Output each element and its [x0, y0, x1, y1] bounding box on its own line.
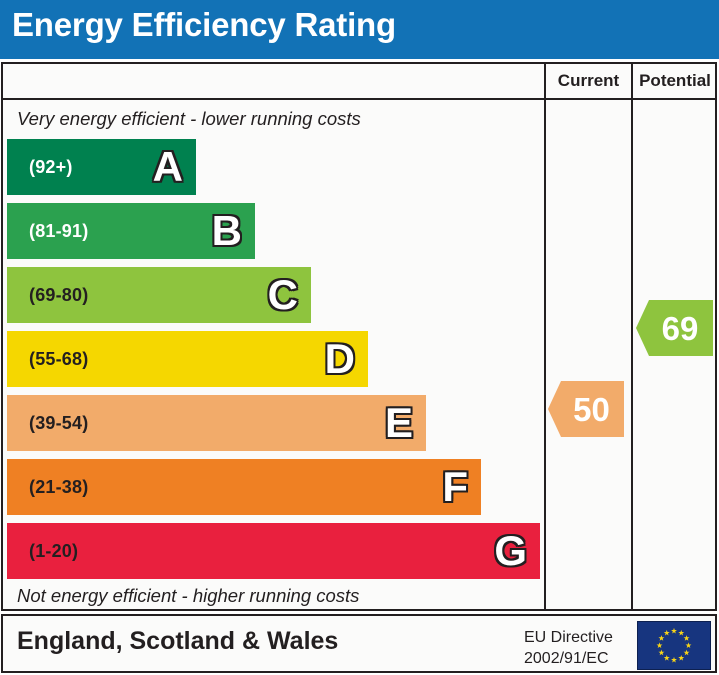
rating-band-letter: D	[325, 338, 359, 380]
rating-band-f: (21-38)F	[7, 459, 481, 515]
footer-region-label: England, Scotland & Wales	[17, 627, 338, 656]
potential-rating-value: 69	[651, 312, 699, 345]
rating-band-c: (69-80)C	[7, 267, 311, 323]
footer-directive-line2: 2002/91/EC	[524, 648, 613, 669]
rating-bands: (92+)A(81-91)B(69-80)C(55-68)D(39-54)E(2…	[7, 139, 542, 581]
eu-flag-icon	[637, 621, 711, 670]
column-header-potential: Potential	[631, 64, 717, 98]
rating-chart-table: Current Potential Very energy efficient …	[1, 62, 717, 611]
epc-certificate: Energy Efficiency Rating Current Potenti…	[0, 0, 719, 675]
footer-directive-line1: EU Directive	[524, 627, 613, 648]
rating-band-range: (69-80)	[29, 286, 88, 304]
rating-band-letter: E	[385, 402, 417, 444]
rating-band-letter: G	[494, 530, 531, 572]
current-rating-arrow: 50	[548, 381, 624, 437]
column-header-current: Current	[544, 64, 631, 98]
eu-flag-stars	[638, 622, 710, 669]
rating-band-letter: C	[268, 274, 302, 316]
rating-band-b: (81-91)B	[7, 203, 255, 259]
current-rating-value: 50	[562, 393, 610, 426]
rating-band-range: (81-91)	[29, 222, 88, 240]
rating-band-range: (55-68)	[29, 350, 88, 368]
rating-band-letter: F	[442, 466, 472, 508]
potential-rating-arrow: 69	[636, 300, 713, 356]
page-title: Energy Efficiency Rating	[12, 6, 396, 44]
rating-band-e: (39-54)E	[7, 395, 426, 451]
column-divider-current	[544, 100, 546, 609]
column-header-row: Current Potential	[3, 64, 715, 100]
rating-band-a: (92+)A	[7, 139, 196, 195]
footer-directive: EU Directive 2002/91/EC	[524, 627, 613, 669]
rating-band-range: (92+)	[29, 158, 73, 176]
caption-efficient: Very energy efficient - lower running co…	[17, 108, 361, 130]
rating-band-d: (55-68)D	[7, 331, 368, 387]
caption-inefficient: Not energy efficient - higher running co…	[17, 585, 359, 607]
rating-band-letter: A	[153, 146, 187, 188]
rating-band-g: (1-20)G	[7, 523, 540, 579]
rating-band-letter: B	[212, 210, 246, 252]
rating-band-range: (21-38)	[29, 478, 88, 496]
column-divider-potential	[631, 100, 633, 609]
rating-band-range: (1-20)	[29, 542, 78, 560]
rating-band-range: (39-54)	[29, 414, 88, 432]
footer-bar: England, Scotland & Wales EU Directive 2…	[1, 614, 717, 673]
chart-header-bar: Energy Efficiency Rating	[0, 0, 719, 59]
